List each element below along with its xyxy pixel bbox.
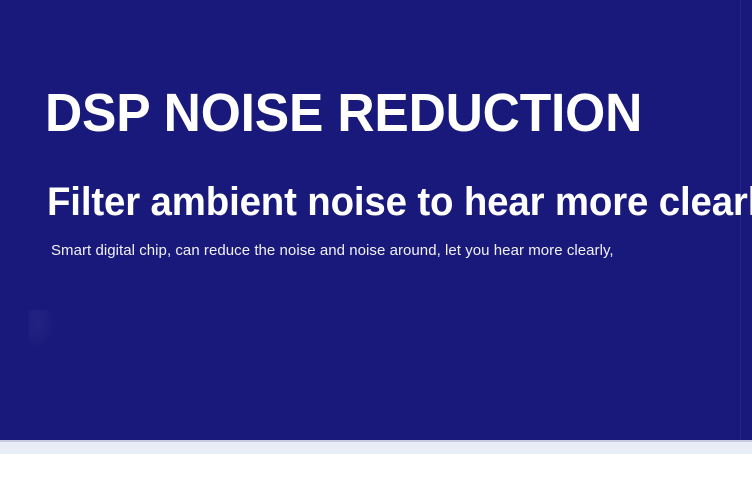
product-feature-banner-page: DSP NOISE REDUCTION Filter ambient noise…: [0, 0, 752, 480]
page-title: DSP NOISE REDUCTION: [45, 84, 642, 142]
hero-banner: DSP NOISE REDUCTION Filter ambient noise…: [0, 0, 752, 440]
pale-separator-band: [0, 442, 752, 454]
white-footer-band: [0, 454, 752, 480]
hero-subtitle: Filter ambient noise to hear more clearl…: [47, 180, 752, 224]
banner-watermark-smudge: [28, 310, 52, 346]
hero-description: Smart digital chip, can reduce the noise…: [51, 241, 614, 261]
